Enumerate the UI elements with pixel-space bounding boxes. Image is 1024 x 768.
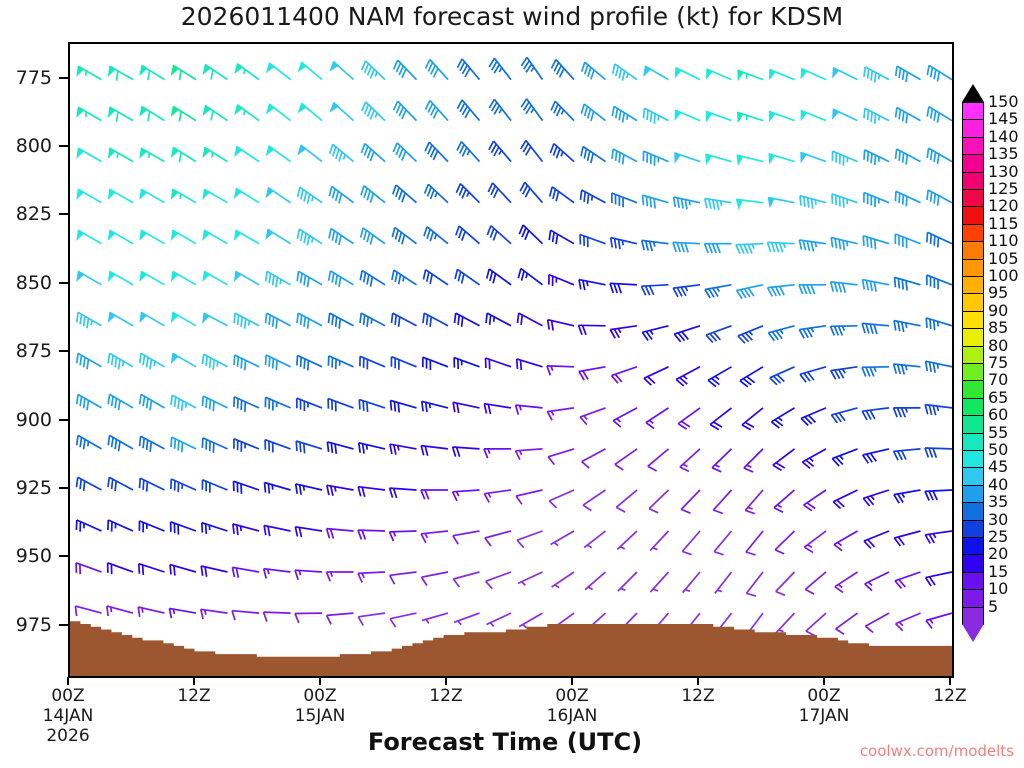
x-tick-mark [697, 677, 699, 685]
x-tick-date-label: 17JAN [799, 706, 850, 726]
colorbar-swatch [962, 259, 984, 277]
x-tick-label: 12Z [429, 686, 462, 706]
colorbar-tick-label: 90 [988, 303, 1008, 319]
colorbar-tick-label: 115 [988, 216, 1019, 232]
colorbar-swatch [962, 119, 984, 137]
colorbar-tick-label: 5 [988, 599, 998, 615]
colorbar-swatch [962, 572, 984, 590]
terrain-surface-fill [70, 44, 952, 676]
colorbar-tick-label: 85 [988, 320, 1008, 336]
colorbar-tick-label: 130 [988, 164, 1019, 180]
colorbar-tick-label: 20 [988, 546, 1008, 562]
x-tick-mark [193, 677, 195, 685]
colorbar-tick-label: 75 [988, 355, 1008, 371]
colorbar-tick-label: 45 [988, 459, 1008, 475]
colorbar-over-arrow-icon [962, 84, 984, 102]
colorbar-tick-label: 120 [988, 198, 1019, 214]
y-tick-mark [59, 213, 68, 215]
plot-area [68, 42, 954, 678]
colorbar-tick-label: 100 [988, 268, 1019, 284]
x-tick-label: 12Z [681, 686, 714, 706]
colorbar-tick-label: 30 [988, 512, 1008, 528]
colorbar-swatch [962, 589, 984, 607]
colorbar-tick-label: 140 [988, 129, 1019, 145]
colorbar-tick-label: 125 [988, 181, 1019, 197]
colorbar-swatch [962, 276, 984, 294]
y-tick-label: 800 [0, 135, 52, 157]
colorbar-tick-label: 65 [988, 390, 1008, 406]
colorbar-tick-label: 35 [988, 494, 1008, 510]
colorbar-swatch [962, 467, 984, 485]
colorbar-swatch [962, 328, 984, 346]
colorbar-tick-label: 50 [988, 442, 1008, 458]
colorbar-swatch [962, 520, 984, 538]
colorbar-swatch [962, 363, 984, 381]
y-tick-label: 925 [0, 477, 52, 499]
x-tick-mark [67, 677, 69, 685]
y-tick-label: 775 [0, 67, 52, 89]
colorbar-tick-label: 15 [988, 564, 1008, 580]
colorbar-swatch [962, 241, 984, 259]
colorbar-swatch [962, 398, 984, 416]
x-tick-label: 00Z [555, 686, 588, 706]
colorbar-tick-label: 25 [988, 529, 1008, 545]
colorbar-swatch [962, 102, 984, 120]
colorbar-swatch [962, 502, 984, 520]
colorbar-tick-label: 135 [988, 146, 1019, 162]
colorbar-tick-label: 105 [988, 251, 1019, 267]
y-tick-label: 975 [0, 614, 52, 636]
colorbar-swatch [962, 450, 984, 468]
colorbar-swatch [962, 224, 984, 242]
colorbar-swatch [962, 172, 984, 190]
colorbar-swatch [962, 137, 984, 155]
y-tick-label: 875 [0, 340, 52, 362]
colorbar-tick-label: 40 [988, 477, 1008, 493]
x-tick-date-label: 14JAN [43, 706, 94, 726]
colorbar-tick-label: 55 [988, 425, 1008, 441]
colorbar-swatch [962, 485, 984, 503]
y-tick-mark [59, 282, 68, 284]
colorbar-tick-label: 70 [988, 372, 1008, 388]
y-tick-mark [59, 487, 68, 489]
colorbar-swatch [962, 154, 984, 172]
x-tick-label: 00Z [807, 686, 840, 706]
colorbar-swatch [962, 554, 984, 572]
colorbar-swatch [962, 206, 984, 224]
y-tick-mark [59, 145, 68, 147]
x-tick-mark [445, 677, 447, 685]
y-tick-label: 950 [0, 545, 52, 567]
colorbar-swatch [962, 189, 984, 207]
colorbar-under-arrow-icon [962, 624, 984, 642]
y-tick-label: 825 [0, 203, 52, 225]
colorbar-tick-label: 95 [988, 285, 1008, 301]
colorbar-tick-label: 80 [988, 338, 1008, 354]
x-tick-label: 00Z [303, 686, 336, 706]
x-tick-mark [319, 677, 321, 685]
wind-profile-chart-page: 2026011400 NAM forecast wind profile (kt… [0, 0, 1024, 768]
terrain-polygon [70, 621, 952, 676]
y-tick-label: 850 [0, 272, 52, 294]
x-tick-date-label: 16JAN [547, 706, 598, 726]
colorbar-swatch [962, 433, 984, 451]
watermark: coolwx.com/modelts [860, 742, 1014, 760]
x-tick-date-label: 15JAN [295, 706, 346, 726]
x-tick-mark [571, 677, 573, 685]
x-tick-mark [823, 677, 825, 685]
colorbar-swatch [962, 346, 984, 364]
x-tick-label: 12Z [933, 686, 966, 706]
colorbar-swatch [962, 311, 984, 329]
colorbar-swatch [962, 293, 984, 311]
y-tick-label: 900 [0, 409, 52, 431]
colorbar-swatch [962, 415, 984, 433]
colorbar-tick-label: 10 [988, 581, 1008, 597]
y-tick-mark [59, 555, 68, 557]
y-tick-mark [59, 624, 68, 626]
colorbar-tick-label: 110 [988, 233, 1019, 249]
colorbar-swatch [962, 380, 984, 398]
x-tick-mark [949, 677, 951, 685]
y-tick-mark [59, 77, 68, 79]
colorbar-tick-label: 150 [988, 94, 1019, 110]
colorbar-tick-label: 145 [988, 111, 1019, 127]
colorbar-swatch [962, 537, 984, 555]
page-title: 2026011400 NAM forecast wind profile (kt… [0, 2, 1024, 31]
colorbar-swatch [962, 607, 984, 625]
y-tick-mark [59, 350, 68, 352]
x-tick-label: 12Z [177, 686, 210, 706]
y-tick-mark [59, 419, 68, 421]
colorbar-tick-label: 60 [988, 407, 1008, 423]
x-tick-label: 00Z [51, 686, 84, 706]
x-axis-title: Forecast Time (UTC) [0, 728, 1010, 756]
colorbar-legend: 1501451401351301251201151101051009590858… [962, 86, 986, 642]
